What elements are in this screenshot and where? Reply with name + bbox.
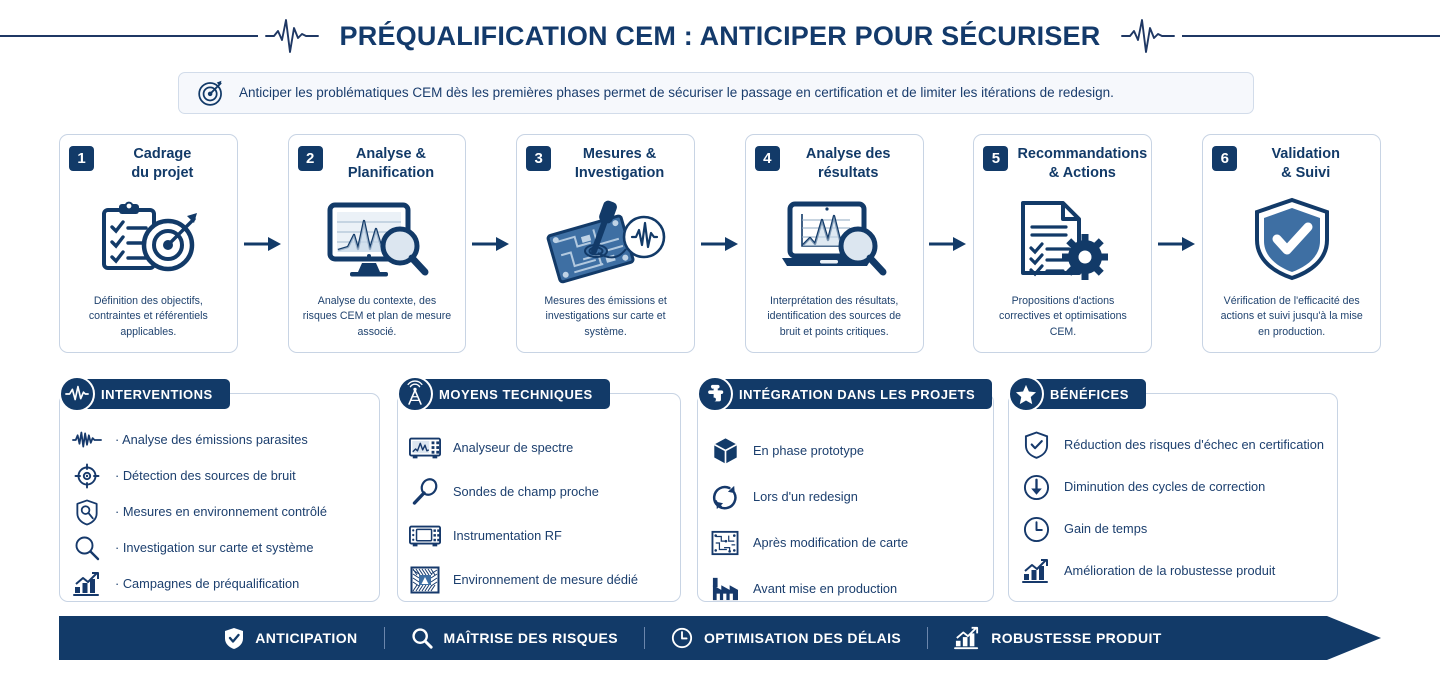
waveform-icon: [266, 16, 318, 56]
step-illustration: [755, 183, 914, 294]
list-item-label: Lors d'un redesign: [753, 488, 858, 505]
list-item: En phase prototype: [709, 428, 982, 474]
laptop-chart-magnifier-icon: [778, 200, 890, 278]
step-arrow-5-6: [1152, 134, 1202, 353]
page-header: PRÉQUALIFICATION CEM : ANTICIPER POUR SÉ…: [0, 8, 1440, 64]
target-arrow-icon: [197, 79, 225, 107]
list-item: · Mesures en environnement contrôlé: [71, 494, 368, 530]
banner-item-maitrise-des-risques: MAÎTRISE DES RISQUES: [385, 627, 644, 649]
list-item: · Investigation sur carte et système: [71, 530, 368, 566]
step-description: Mesures des émissions et investigations …: [526, 294, 685, 342]
spectrum-analyzer-icon: [409, 432, 441, 464]
shield-probe-icon: [71, 496, 103, 528]
list-item: Lors d'un redesign: [709, 474, 982, 520]
step-number-badge: 3: [526, 146, 551, 171]
arrow-down-circle-icon: [1020, 471, 1052, 503]
panel-header: INTÉGRATION DANS LES PROJETS: [697, 376, 992, 412]
arrow-right-icon: [929, 236, 967, 252]
list-item-label: Amélioration de la robustesse produit: [1064, 562, 1275, 579]
step-header: 2 Analyse & Planification: [298, 146, 457, 183]
step-title-line2: & Suivi: [1281, 165, 1330, 181]
step-title: Validation & Suivi: [1246, 145, 1371, 183]
panel-header: MOYENS TECHNIQUES: [397, 376, 610, 412]
step-title: Analyse & Planification: [332, 145, 457, 183]
pcb-edit-icon: [709, 527, 741, 559]
panel-title: BÉNÉFICES: [1028, 379, 1146, 409]
list-item: Amélioration de la robustesse produit: [1020, 550, 1326, 592]
rf-instrument-icon: [409, 520, 441, 552]
step-arrow-2-3: [466, 134, 516, 353]
list-item-label: · Analyse des émissions parasites: [115, 431, 308, 448]
step-description: Propositions d'actions correctives et op…: [983, 294, 1142, 342]
list-item-label: · Investigation sur carte et système: [115, 539, 313, 556]
list-item: Environnement de mesure dédié: [409, 558, 669, 602]
step-title-line1: Cadrage: [133, 146, 191, 162]
arrow-right-icon: [1158, 236, 1196, 252]
info-panels: INTERVENTIONS · Analyse des émissions pa…: [59, 376, 1381, 602]
list-item-label: Après modification de carte: [753, 534, 908, 551]
step-title-line2: du projet: [131, 165, 193, 181]
step-header: 1 Cadrage du projet: [69, 146, 228, 183]
step-number-badge: 5: [983, 146, 1008, 171]
step-description: Vérification de l'efficacité des actions…: [1212, 294, 1371, 342]
step-number-badge: 2: [298, 146, 323, 171]
panel-title: INTÉGRATION DANS LES PROJETS: [717, 379, 992, 409]
panel-benefices: BÉNÉFICES Réduction des risques d'échec …: [1008, 376, 1338, 602]
shield-check-solid-icon: [224, 627, 244, 650]
list-item-label: · Mesures en environnement contrôlé: [115, 503, 327, 520]
list-item: · Détection des sources de bruit: [71, 458, 368, 494]
step-arrow-4-5: [924, 134, 974, 353]
banner-item-label: OPTIMISATION DES DÉLAIS: [704, 630, 901, 646]
waveform-icon: [1122, 16, 1174, 56]
magnifier-icon: [71, 532, 103, 564]
step-title-line1: Analyse &: [356, 146, 426, 162]
step-header: 4 Analyse des résultats: [755, 146, 914, 183]
step-illustration: [298, 183, 457, 294]
panel-moyens-techniques: MOYENS TECHNIQUES: [397, 376, 681, 602]
header-rule-right: [1182, 35, 1440, 37]
list-item: Avant mise en production: [709, 566, 982, 612]
step-title: Mesures & Investigation: [560, 145, 685, 183]
chart-arrow-up-icon: [1020, 555, 1052, 587]
list-item: Gain de temps: [1020, 508, 1326, 550]
banner-item-label: ROBUSTESSE PRODUIT: [991, 630, 1162, 646]
header-rule-left: [0, 35, 258, 37]
process-steps: 1 Cadrage du projet: [59, 134, 1381, 353]
banner-item-label: MAÎTRISE DES RISQUES: [444, 630, 618, 646]
step-description: Définition des objectifs, contraintes et…: [69, 294, 228, 342]
antenna-tower-icon: [397, 376, 433, 412]
star-icon: [1008, 376, 1044, 412]
step-card-2[interactable]: 2 Analyse & Planification: [288, 134, 467, 353]
step-header: 5 Recommandations & Actions: [983, 146, 1142, 183]
step-card-6[interactable]: 6 Validation & Suivi Vérification de l'e…: [1202, 134, 1381, 353]
banner-item-robustesse-produit: ROBUSTESSE PRODUIT: [928, 626, 1188, 650]
near-field-probe-icon: [409, 476, 441, 508]
step-card-4[interactable]: 4 Analyse des résultats: [745, 134, 924, 353]
panel-interventions: INTERVENTIONS · Analyse des émissions pa…: [59, 376, 380, 602]
puzzle-piece-icon: [697, 376, 733, 412]
waveform-circle-icon: [59, 376, 95, 412]
step-title-line1: Mesures &: [583, 146, 656, 162]
panel-header: INTERVENTIONS: [59, 376, 230, 412]
arrow-right-icon: [701, 236, 739, 252]
step-title: Cadrage du projet: [103, 145, 228, 183]
step-card-5[interactable]: 5 Recommandations & Actions: [973, 134, 1152, 353]
pcb-probe-waveform-icon: [538, 199, 674, 279]
clock-icon: [671, 627, 693, 649]
panel-items: En phase prototype Lors d'un redesign: [697, 428, 994, 594]
panel-integration: INTÉGRATION DANS LES PROJETS En phase pr…: [697, 376, 994, 602]
step-title-line2: Planification: [348, 165, 434, 181]
document-checklist-gear-icon: [1013, 199, 1113, 279]
list-item-label: En phase prototype: [753, 442, 864, 459]
banner-body: ANTICIPATION MAÎTRISE DES RISQUES OPTIMI…: [59, 616, 1327, 660]
magnifier-icon: [411, 627, 433, 649]
bar-chart-growth-icon: [954, 626, 980, 650]
arrow-right-icon: [472, 236, 510, 252]
step-title-line1: Analyse des: [806, 146, 891, 162]
banner-item-label: ANTICIPATION: [255, 630, 357, 646]
waveform-icon: [71, 424, 103, 456]
step-number-badge: 4: [755, 146, 780, 171]
step-description: Interprétation des résultats, identifica…: [755, 294, 914, 342]
page-title: PRÉQUALIFICATION CEM : ANTICIPER POUR SÉ…: [326, 21, 1115, 52]
step-illustration: [1212, 183, 1371, 294]
step-card-3[interactable]: 3 Mesures & Investigation: [516, 134, 695, 353]
step-title: Analyse des résultats: [789, 145, 914, 183]
panel-items: Analyseur de spectre Sondes de champ pro…: [397, 426, 681, 594]
panel-title: MOYENS TECHNIQUES: [417, 379, 610, 409]
step-illustration: [69, 183, 228, 294]
intro-callout: Anticiper les problématiques CEM dès les…: [178, 72, 1254, 114]
list-item-label: Instrumentation RF: [453, 527, 562, 544]
cube-icon: [709, 435, 741, 467]
factory-icon: [709, 573, 741, 605]
arrow-right-icon: [244, 236, 282, 252]
step-number-badge: 6: [1212, 146, 1237, 171]
shield-check-outline-icon: [1020, 429, 1052, 461]
banner-item-anticipation: ANTICIPATION: [198, 627, 383, 650]
step-arrow-3-4: [695, 134, 745, 353]
list-item-label: Réduction des risques d'échec en certifi…: [1064, 436, 1324, 453]
list-item-label: Avant mise en production: [753, 580, 897, 597]
step-header: 3 Mesures & Investigation: [526, 146, 685, 183]
list-item: Analyseur de spectre: [409, 426, 669, 470]
list-item: Diminution des cycles de correction: [1020, 466, 1326, 508]
panel-title: INTERVENTIONS: [79, 379, 230, 409]
panel-items: · Analyse des émissions parasites: [59, 422, 380, 594]
list-item: · Campagnes de préqualification: [71, 566, 368, 602]
step-title-line1: Validation: [1271, 146, 1340, 162]
list-item: Sondes de champ proche: [409, 470, 669, 514]
step-title-line1: Recommandations: [1017, 146, 1147, 162]
step-title-line2: Investigation: [575, 165, 664, 181]
clock-icon: [1020, 513, 1052, 545]
shield-check-icon: [1252, 198, 1332, 280]
step-description: Analyse du contexte, des risques CEM et …: [298, 294, 457, 342]
panel-items: Réduction des risques d'échec en certifi…: [1008, 424, 1338, 594]
list-item: Instrumentation RF: [409, 514, 669, 558]
step-illustration: [983, 183, 1142, 294]
banner-item-optimisation-des-delais: OPTIMISATION DES DÉLAIS: [645, 627, 927, 649]
list-item-label: Analyseur de spectre: [453, 439, 573, 456]
step-number-badge: 1: [69, 146, 94, 171]
list-item-label: · Détection des sources de bruit: [115, 467, 296, 484]
crosshair-target-icon: [71, 460, 103, 492]
list-item-label: Sondes de champ proche: [453, 483, 599, 500]
anechoic-chamber-icon: [409, 564, 441, 596]
step-card-1[interactable]: 1 Cadrage du projet: [59, 134, 238, 353]
step-illustration: [526, 183, 685, 294]
panel-header: BÉNÉFICES: [1008, 376, 1146, 412]
list-item-label: Environnement de mesure dédié: [453, 571, 638, 588]
clipboard-target-icon: [96, 200, 200, 278]
list-item: Après modification de carte: [709, 520, 982, 566]
list-item-label: Diminution des cycles de correction: [1064, 478, 1265, 495]
bottom-banner: ANTICIPATION MAÎTRISE DES RISQUES OPTIMI…: [59, 616, 1381, 660]
step-title: Recommandations & Actions: [1017, 145, 1153, 183]
refresh-circle-icon: [709, 481, 741, 513]
step-arrow-1-2: [238, 134, 288, 353]
banner-arrow-tip: [1327, 616, 1381, 660]
step-title-line2: résultats: [818, 165, 878, 181]
list-item: · Analyse des émissions parasites: [71, 422, 368, 458]
list-item-label: Gain de temps: [1064, 520, 1147, 537]
step-title-line2: & Actions: [1049, 165, 1116, 181]
infographic-page: PRÉQUALIFICATION CEM : ANTICIPER POUR SÉ…: [0, 0, 1440, 677]
list-item-label: · Campagnes de préqualification: [115, 575, 299, 592]
intro-callout-text: Anticiper les problématiques CEM dès les…: [239, 85, 1114, 101]
list-item: Réduction des risques d'échec en certifi…: [1020, 424, 1326, 466]
monitor-spectrum-magnifier-icon: [324, 199, 430, 279]
bar-chart-growth-icon: [71, 568, 103, 600]
step-header: 6 Validation & Suivi: [1212, 146, 1371, 183]
